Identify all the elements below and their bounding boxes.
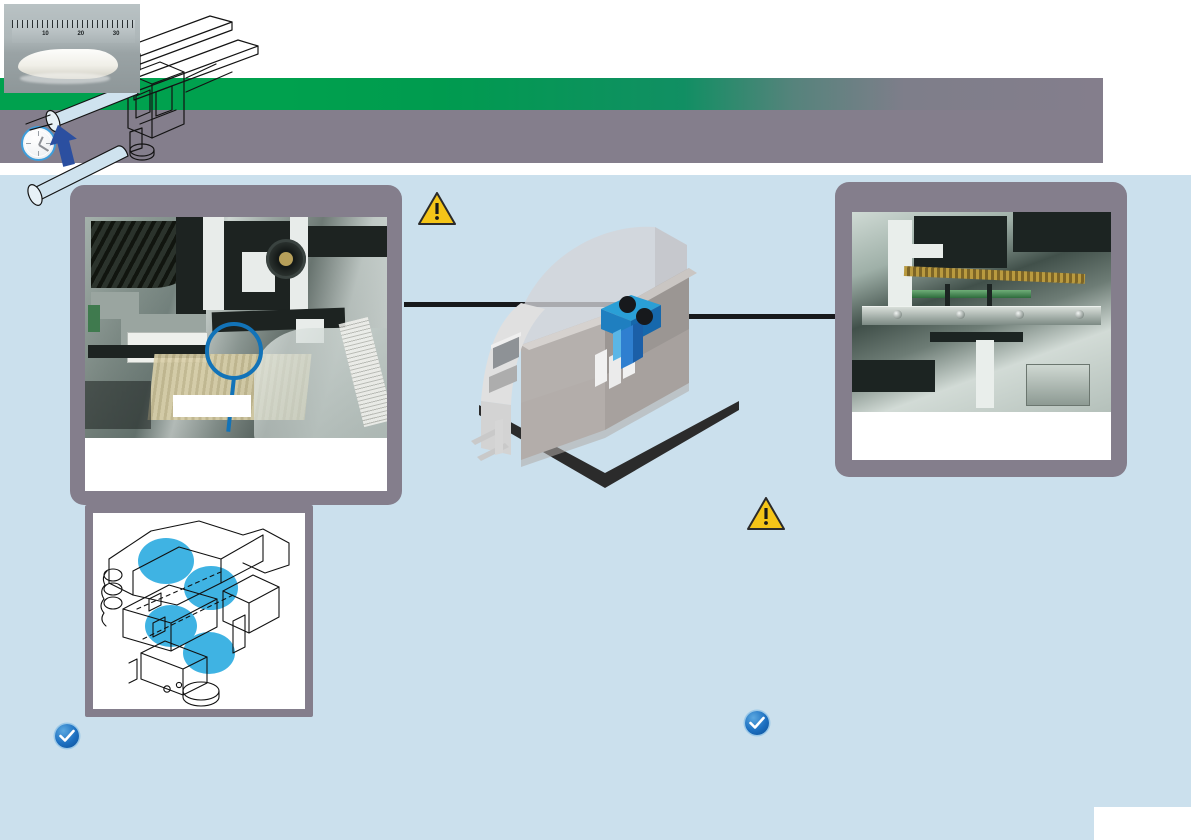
ruler-mark-10: 10 xyxy=(42,31,49,37)
page-root: 10 20 30 xyxy=(0,0,1191,840)
check-badge-icon xyxy=(55,724,79,748)
check-badge-icon xyxy=(745,711,769,735)
ruler-mark-20: 20 xyxy=(77,31,84,37)
ruler-mark-30: 30 xyxy=(113,31,120,37)
grease-sample-ruler-photo: 10 20 30 xyxy=(4,4,140,93)
roller-installation-illustration xyxy=(0,0,1191,840)
